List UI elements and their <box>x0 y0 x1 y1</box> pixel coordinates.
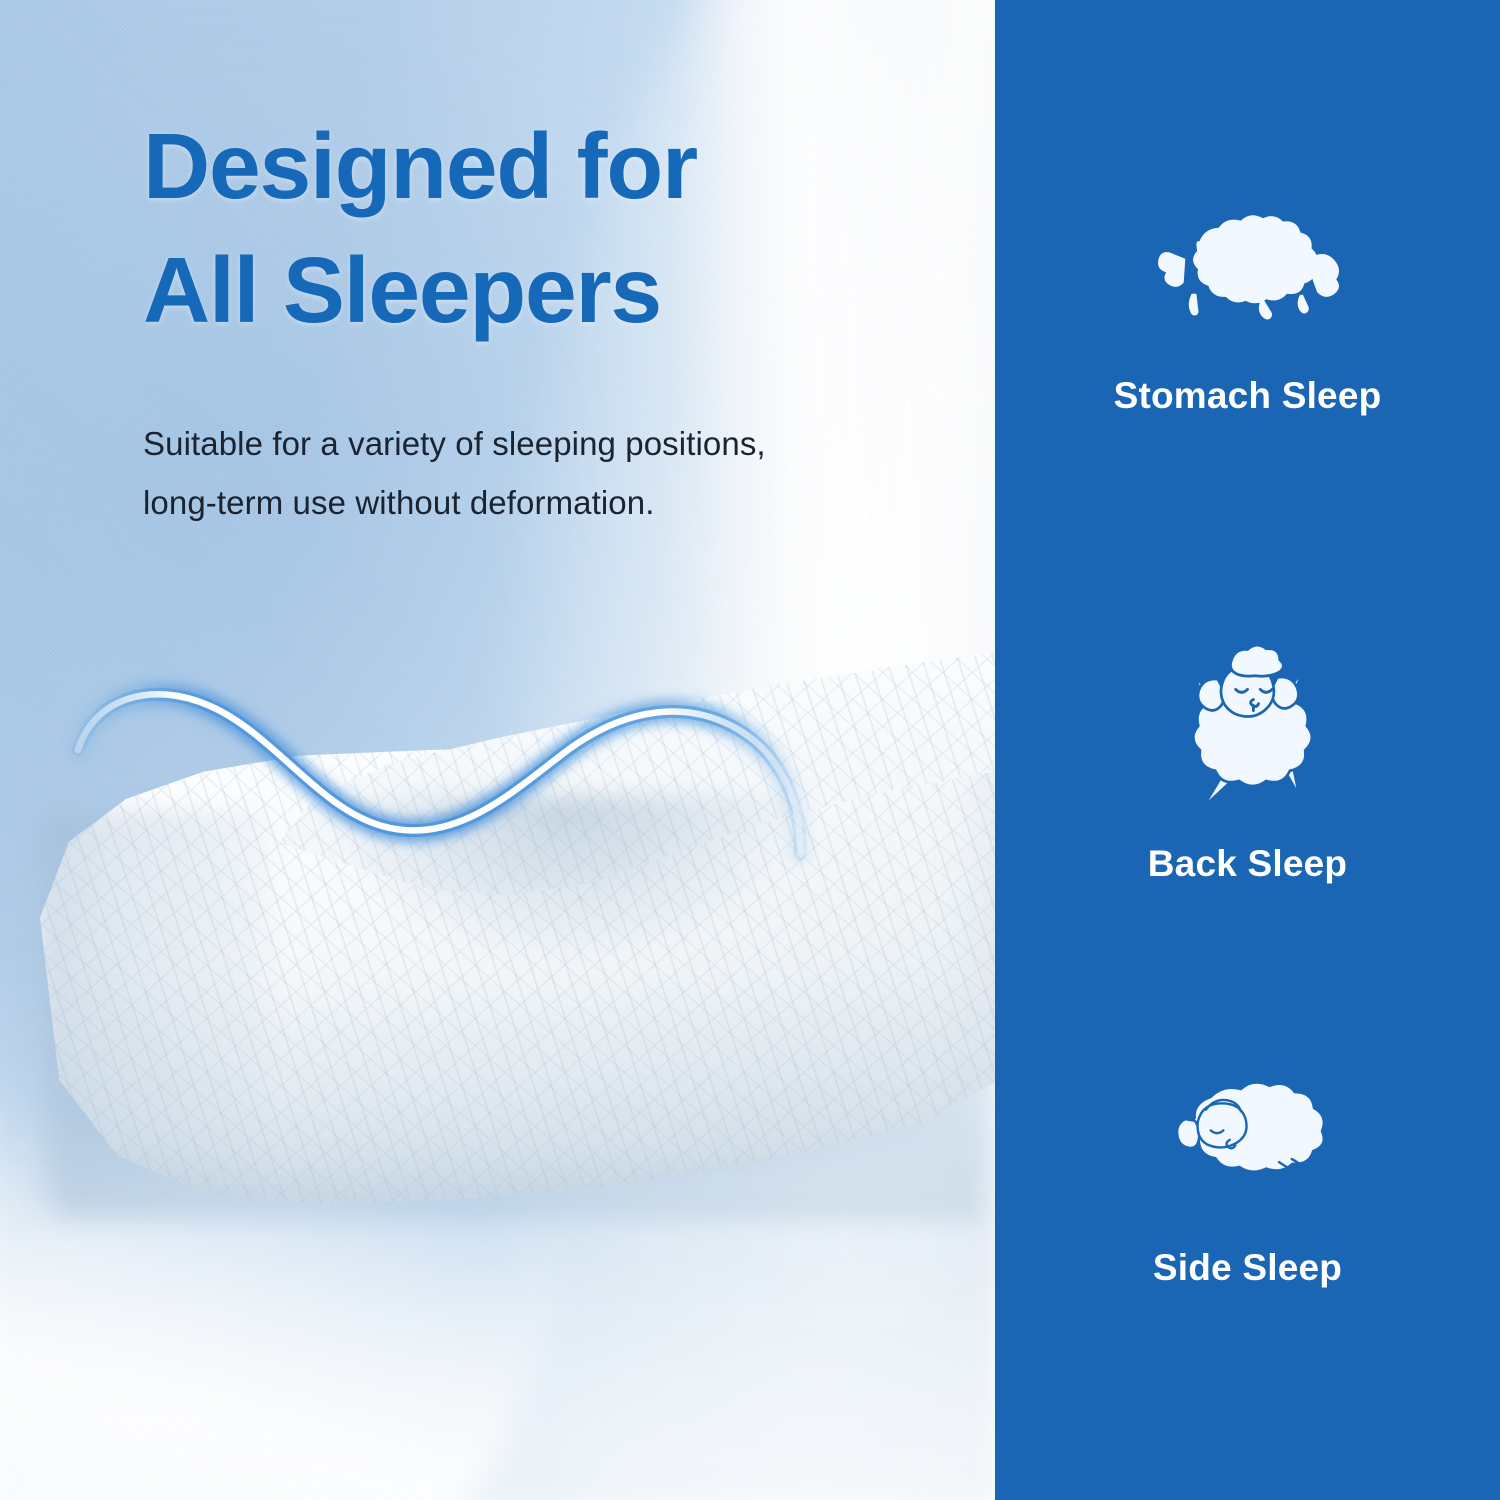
product-infographic: Designed for All Sleepers Suitable for a… <box>0 0 1500 1500</box>
subtitle-line-2: long-term use without deformation. <box>143 474 903 533</box>
product-photo-panel: Designed for All Sleepers Suitable for a… <box>0 0 995 1500</box>
headline-line-2: All Sleepers <box>143 229 943 353</box>
feature-side-sleep[interactable]: Side Sleep <box>995 1070 1500 1289</box>
headline-line-1: Designed for <box>143 105 943 229</box>
feature-back-sleep[interactable]: Back Sleep <box>995 630 1500 885</box>
feature-label-side-sleep: Side Sleep <box>995 1247 1500 1289</box>
sheep-side-sleep-icon <box>1144 1070 1350 1205</box>
page-title: Designed for All Sleepers <box>143 105 943 352</box>
feature-label-stomach-sleep: Stomach Sleep <box>995 375 1500 417</box>
pillow-front-shading <box>60 980 980 1220</box>
sheep-back-sleep-icon <box>1150 630 1345 825</box>
sheep-stomach-sleep-icon <box>1144 200 1350 335</box>
subtitle-text: Suitable for a variety of sleeping posit… <box>143 415 903 532</box>
feature-stomach-sleep[interactable]: Stomach Sleep <box>995 200 1500 417</box>
feature-label-back-sleep: Back Sleep <box>995 843 1500 885</box>
sleep-positions-panel: Stomach Sleep <box>995 0 1500 1500</box>
subtitle-line-1: Suitable for a variety of sleeping posit… <box>143 415 903 474</box>
ergonomic-wave-curve-icon <box>60 640 880 900</box>
